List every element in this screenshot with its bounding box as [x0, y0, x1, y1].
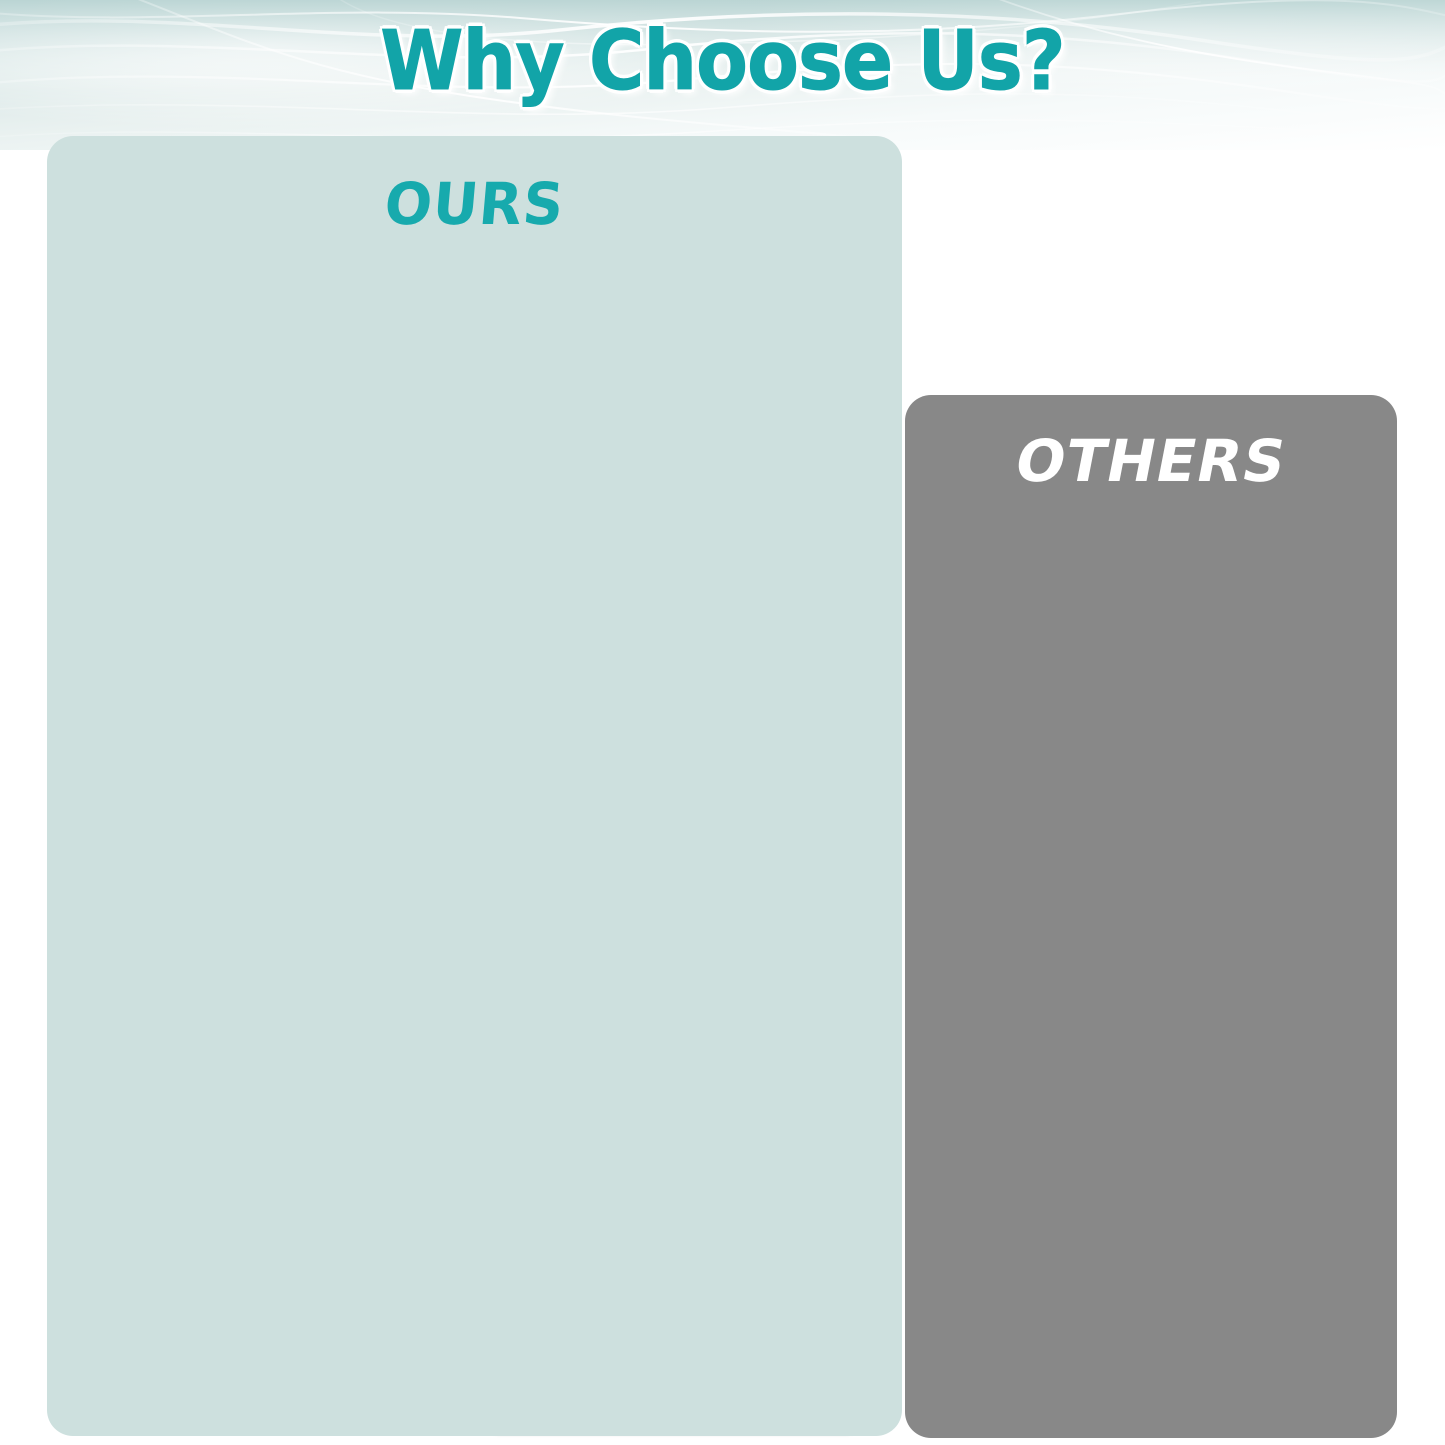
- header-banner: Why Choose Us?: [0, 0, 1445, 150]
- ours-heading: OURS: [61, 170, 888, 238]
- others-heading: OTHERS: [898, 427, 1403, 495]
- ours-panel: OURS: [47, 136, 902, 1436]
- page-title: Why Choose Us?: [58, 14, 1387, 109]
- others-panel: OTHERS: [905, 395, 1397, 1438]
